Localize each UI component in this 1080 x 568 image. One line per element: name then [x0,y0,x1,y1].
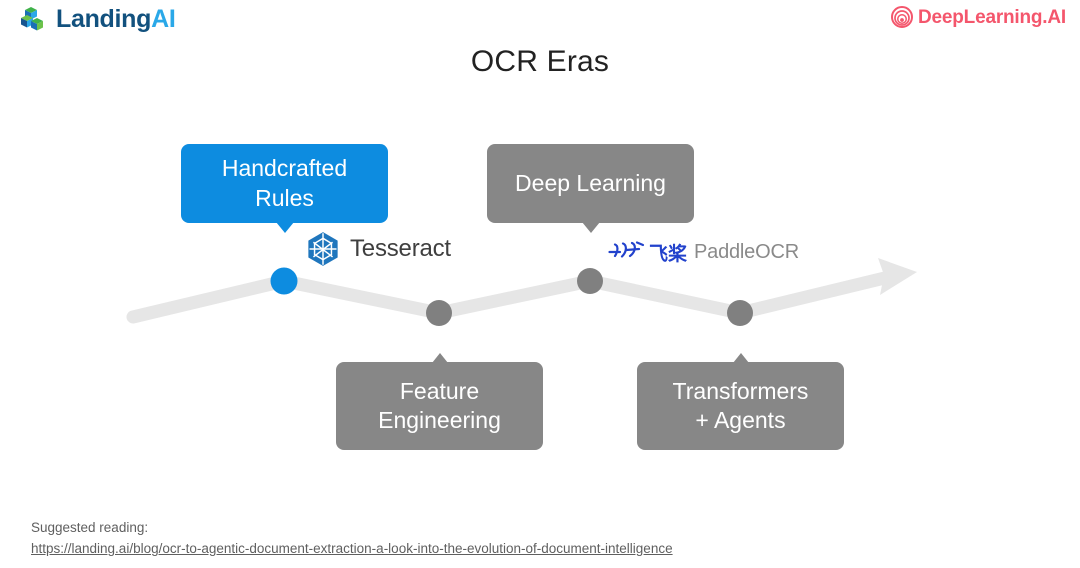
suggested-reading-link[interactable]: https://landing.ai/blog/ocr-to-agentic-d… [31,539,673,560]
callout-transformers-agents-line1: Transformers [673,378,809,404]
timeline-node-feature-engineering [426,300,452,326]
timeline-node-deep-learning [577,268,603,294]
paddleocr-script-label: 飞桨 [649,245,687,264]
paddleocr-logo: 飞桨 PaddleOCR [608,240,799,264]
callout-handcrafted-rules[interactable]: Handcrafted Rules [181,144,388,223]
timeline-node-transformers-agents [727,300,753,326]
callout-feature-engineering-line2: Engineering [378,407,501,433]
paddle-script-icon [608,240,646,260]
callout-pointer-down-icon [276,222,294,233]
paddleocr-label: PaddleOCR [694,242,799,262]
callout-pointer-up-icon [733,353,749,363]
tesseract-label: Tesseract [350,237,451,261]
timeline-node-handcrafted-rules [271,268,298,295]
callout-transformers-agents-line2: + Agents [695,407,785,433]
tesseract-logo: Tesseract [305,231,451,267]
timeline-arrowhead [878,258,917,295]
timeline-path [133,276,893,317]
callout-pointer-down-icon [582,222,600,233]
paddleocr-mark: 飞桨 [608,240,687,264]
ocr-eras-timeline: Handcrafted Rules Deep Learning Feature … [0,0,1080,568]
callout-deep-learning-label: Deep Learning [515,169,666,198]
timeline-graphic [0,0,1080,568]
callout-deep-learning[interactable]: Deep Learning [487,144,694,223]
callout-feature-engineering-line1: Feature [400,378,479,404]
tesseract-hexagon-icon [305,231,341,267]
callout-handcrafted-rules-line2: Rules [255,185,314,211]
suggested-reading: Suggested reading: https://landing.ai/bl… [31,518,673,560]
callout-transformers-agents[interactable]: Transformers + Agents [637,362,844,450]
callout-handcrafted-rules-line1: Handcrafted [222,155,347,181]
suggested-reading-label: Suggested reading: [31,518,673,539]
callout-feature-engineering[interactable]: Feature Engineering [336,362,543,450]
callout-pointer-up-icon [432,353,448,363]
